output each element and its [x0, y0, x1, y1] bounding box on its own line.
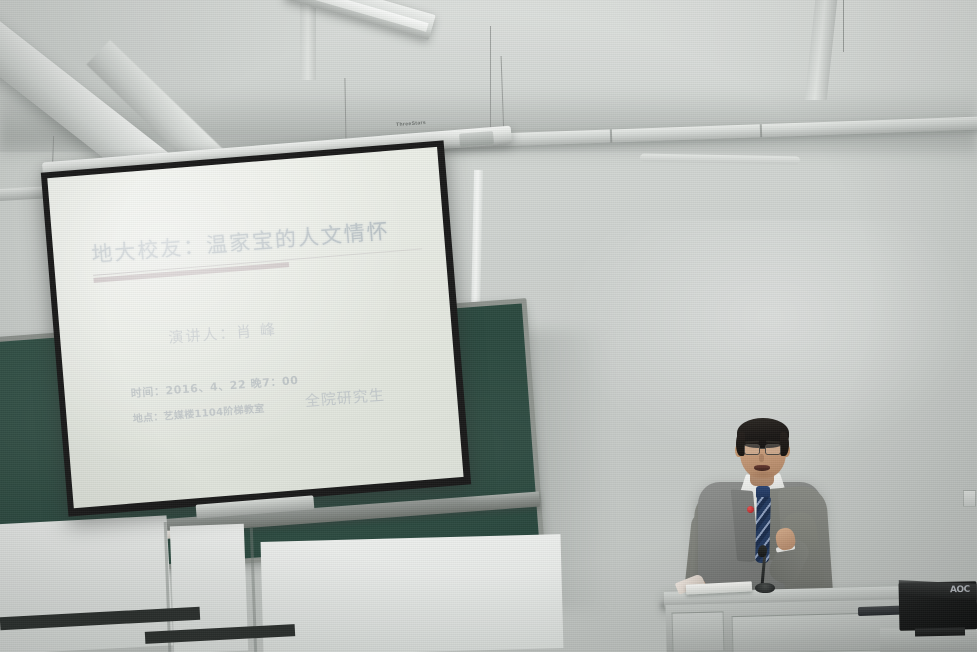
speaker-glasses-right-lens	[765, 444, 781, 455]
monitor-stand	[915, 627, 965, 636]
wall-panel-lower-right	[261, 534, 564, 652]
microphone-base	[755, 583, 775, 593]
conduit-seam	[760, 124, 762, 137]
speaker-lapel-pin	[747, 506, 754, 513]
wall-switch-plate	[963, 490, 976, 507]
speaker-hair-side-right	[780, 432, 789, 456]
conduit-seam	[610, 129, 612, 142]
suspension-wire	[843, 0, 844, 52]
slide-title: 地大校友：温家宝的人文情怀	[90, 213, 421, 269]
aoc-logo: AOC	[950, 585, 970, 595]
slide-presenter-line: 演讲人：肖 峰	[168, 318, 278, 348]
slide-venue-line: 地点：艺媒楼1104阶梯教室	[132, 400, 265, 426]
speaker-nose	[759, 454, 764, 462]
slide-datetime-line: 时间：2016、4、22 晚7：00	[130, 372, 299, 401]
speaker-chin-shadow	[748, 470, 778, 479]
roller-bracket-right	[459, 131, 494, 147]
slide-audience-line: 全院研究生	[304, 384, 385, 411]
projection-surface: 地大校友：温家宝的人文情怀 演讲人：肖 峰 时间：2016、4、22 晚7：00…	[47, 147, 463, 508]
ceiling-beam-vertical-left	[300, 0, 316, 80]
suspension-wire	[490, 26, 491, 138]
podium-drawer-left[interactable]	[672, 611, 725, 652]
speaker-glasses-bridge	[760, 448, 765, 449]
podium-drawer-right[interactable]	[732, 612, 905, 652]
lecture-hall-photo: ThreeStars 地大校友：温家宝的人文情怀 演讲人：肖 峰 时间：2016…	[0, 0, 977, 652]
speaker-glasses-left-lens	[744, 444, 760, 455]
projector-screen[interactable]: 地大校友：温家宝的人文情怀 演讲人：肖 峰 时间：2016、4、22 晚7：00…	[41, 140, 471, 516]
